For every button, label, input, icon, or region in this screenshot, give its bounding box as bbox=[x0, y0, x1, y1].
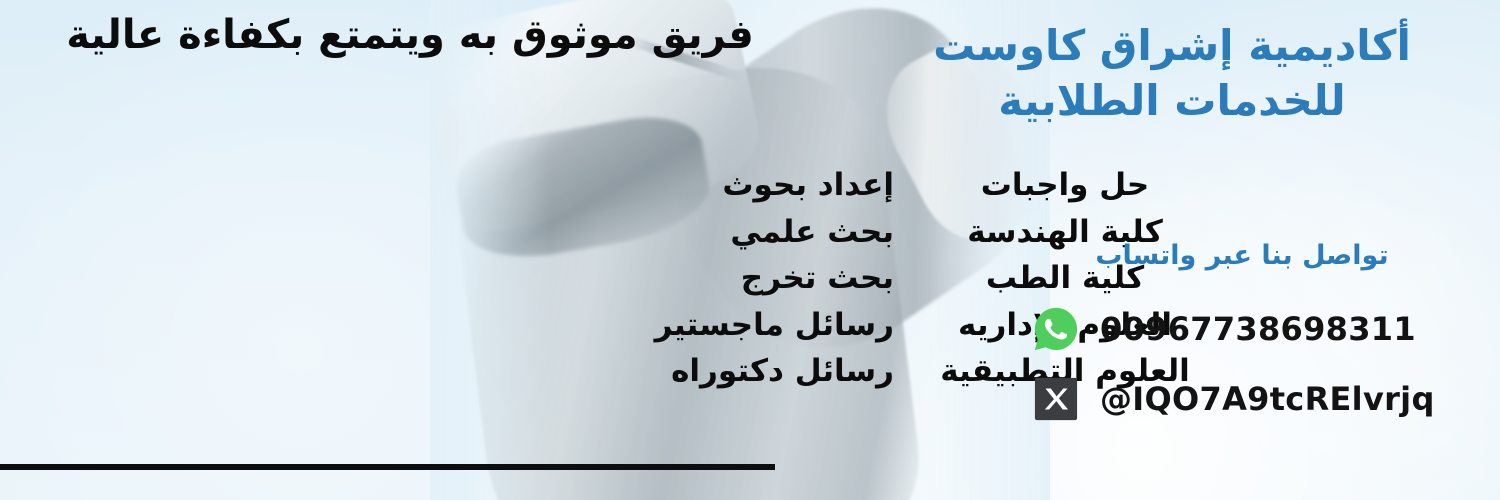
services-column-left: إعداد بحوث بحث علمي بحث تخرج رسائل ماجست… bbox=[655, 162, 894, 395]
promo-banner: فريق موثوق به ويتمتع بكفاءة عالية أكاديم… bbox=[0, 0, 1500, 500]
x-contact-row[interactable]: @IQO7A9tcRElvrjq bbox=[1032, 375, 1452, 423]
whatsapp-contact-row[interactable]: 00967738698311 bbox=[1032, 305, 1452, 353]
whatsapp-icon[interactable] bbox=[1032, 305, 1080, 353]
x-handle[interactable]: @IQO7A9tcRElvrjq bbox=[1100, 380, 1435, 418]
whatsapp-number[interactable]: 00967738698311 bbox=[1100, 310, 1416, 348]
service-item: إعداد بحوث bbox=[655, 162, 894, 209]
x-logo-icon[interactable] bbox=[1032, 375, 1080, 423]
contact-block: تواصل بنا عبر واتساب 00967738698311 bbox=[1032, 240, 1452, 445]
service-item: بحث علمي bbox=[655, 209, 894, 256]
page-title-line-2: للخدمات الطلابية bbox=[892, 73, 1452, 128]
service-item: بحث تخرج bbox=[655, 255, 894, 302]
service-item: حل واجبات bbox=[940, 162, 1190, 209]
tagline: فريق موثوق به ويتمتع بكفاءة عالية bbox=[10, 12, 810, 58]
page-title-line-1: أكاديمية إشراق كاوست bbox=[892, 18, 1452, 73]
horizontal-divider bbox=[0, 464, 775, 470]
service-item: رسائل دكتوراه bbox=[655, 348, 894, 395]
service-item: رسائل ماجستير bbox=[655, 302, 894, 349]
contact-lead-text: تواصل بنا عبر واتساب bbox=[1032, 240, 1452, 271]
page-title: أكاديمية إشراق كاوست للخدمات الطلابية bbox=[892, 18, 1452, 129]
